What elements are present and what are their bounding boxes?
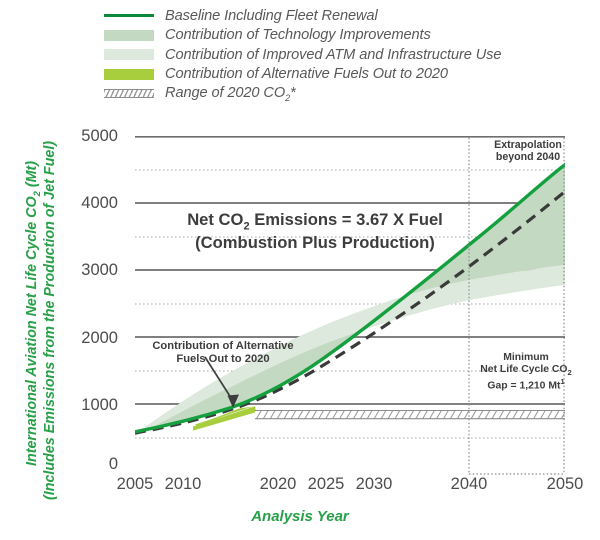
legend-item-technology: Contribution of Technology Improvements bbox=[104, 26, 596, 46]
legend-baseline-line-icon bbox=[104, 9, 154, 22]
legend-item-atm: Contribution of Improved ATM and Infrast… bbox=[104, 45, 596, 65]
legend-label-technology: Contribution of Technology Improvements bbox=[165, 27, 431, 43]
plot-area bbox=[135, 136, 565, 472]
y-tick-4000: 4000 bbox=[58, 195, 118, 212]
annotation-alternative-fuels: Contribution of Alternative Fuels Out to… bbox=[128, 340, 318, 366]
legend-label-atm: Contribution of Improved ATM and Infrast… bbox=[165, 47, 501, 63]
annotation-gap-line2: Net Life Cycle CO2 bbox=[466, 364, 586, 378]
annotation-net-co2-line1: Net CO2 Emissions = 3.67 X Fuel bbox=[150, 210, 480, 233]
y-tick-1000: 1000 bbox=[58, 397, 118, 414]
x-axis-title: Analysis Year bbox=[0, 508, 600, 525]
y-tick-2000: 2000 bbox=[58, 330, 118, 347]
annotation-altfuels-line2: Fuels Out to 2020 bbox=[128, 353, 318, 366]
annotation-altfuels-line1: Contribution of Alternative bbox=[128, 340, 318, 353]
y-tick-0: 0 bbox=[58, 456, 118, 473]
y-tick-5000: 5000 bbox=[58, 128, 118, 145]
range-2020-hatch-band bbox=[255, 411, 565, 419]
x-tick-2030: 2030 bbox=[346, 476, 402, 493]
chart-svg bbox=[135, 136, 565, 476]
annotation-gap-line3: Gap = 1,210 Mt1 bbox=[466, 378, 586, 393]
annotation-extrapolation-line2: beyond 2040 bbox=[474, 151, 582, 163]
x-tick-2010: 2010 bbox=[155, 476, 211, 493]
legend-item-range2020: Range of 2020 CO2* bbox=[104, 84, 596, 104]
x-tick-2050: 2050 bbox=[537, 476, 593, 493]
legend-range2020-hatch-icon bbox=[104, 87, 154, 100]
y-axis-title-line1: International Aviation Net Life Cycle CO… bbox=[24, 161, 43, 466]
legend-altfuels-swatch-icon bbox=[104, 68, 154, 81]
annotation-net-co2-equation: Net CO2 Emissions = 3.67 X Fuel (Combust… bbox=[150, 210, 480, 252]
annotation-minimum-gap: Minimum Net Life Cycle CO2 Gap = 1,210 M… bbox=[466, 352, 586, 392]
legend-item-baseline: Baseline Including Fleet Renewal bbox=[104, 6, 596, 26]
legend-technology-swatch-icon bbox=[104, 29, 154, 42]
x-tick-2040: 2040 bbox=[441, 476, 497, 493]
y-axis-title-line2: (Includes Emissions from the Production … bbox=[42, 141, 58, 500]
legend-item-altfuels: Contribution of Alternative Fuels Out to… bbox=[104, 65, 596, 85]
annotation-net-co2-line2: (Combustion Plus Production) bbox=[150, 233, 480, 252]
annotation-gap-line1: Minimum bbox=[466, 352, 586, 364]
legend-label-baseline: Baseline Including Fleet Renewal bbox=[165, 8, 378, 24]
legend-label-range2020: Range of 2020 CO2* bbox=[165, 85, 296, 103]
annotation-extrapolation-line1: Extrapolation bbox=[474, 139, 582, 151]
chart-legend: Baseline Including Fleet Renewal Contrib… bbox=[104, 6, 596, 104]
annotation-extrapolation: Extrapolation beyond 2040 bbox=[474, 139, 582, 164]
legend-atm-swatch-icon bbox=[104, 48, 154, 61]
y-tick-3000: 3000 bbox=[58, 262, 118, 279]
legend-label-altfuels: Contribution of Alternative Fuels Out to… bbox=[165, 66, 448, 82]
